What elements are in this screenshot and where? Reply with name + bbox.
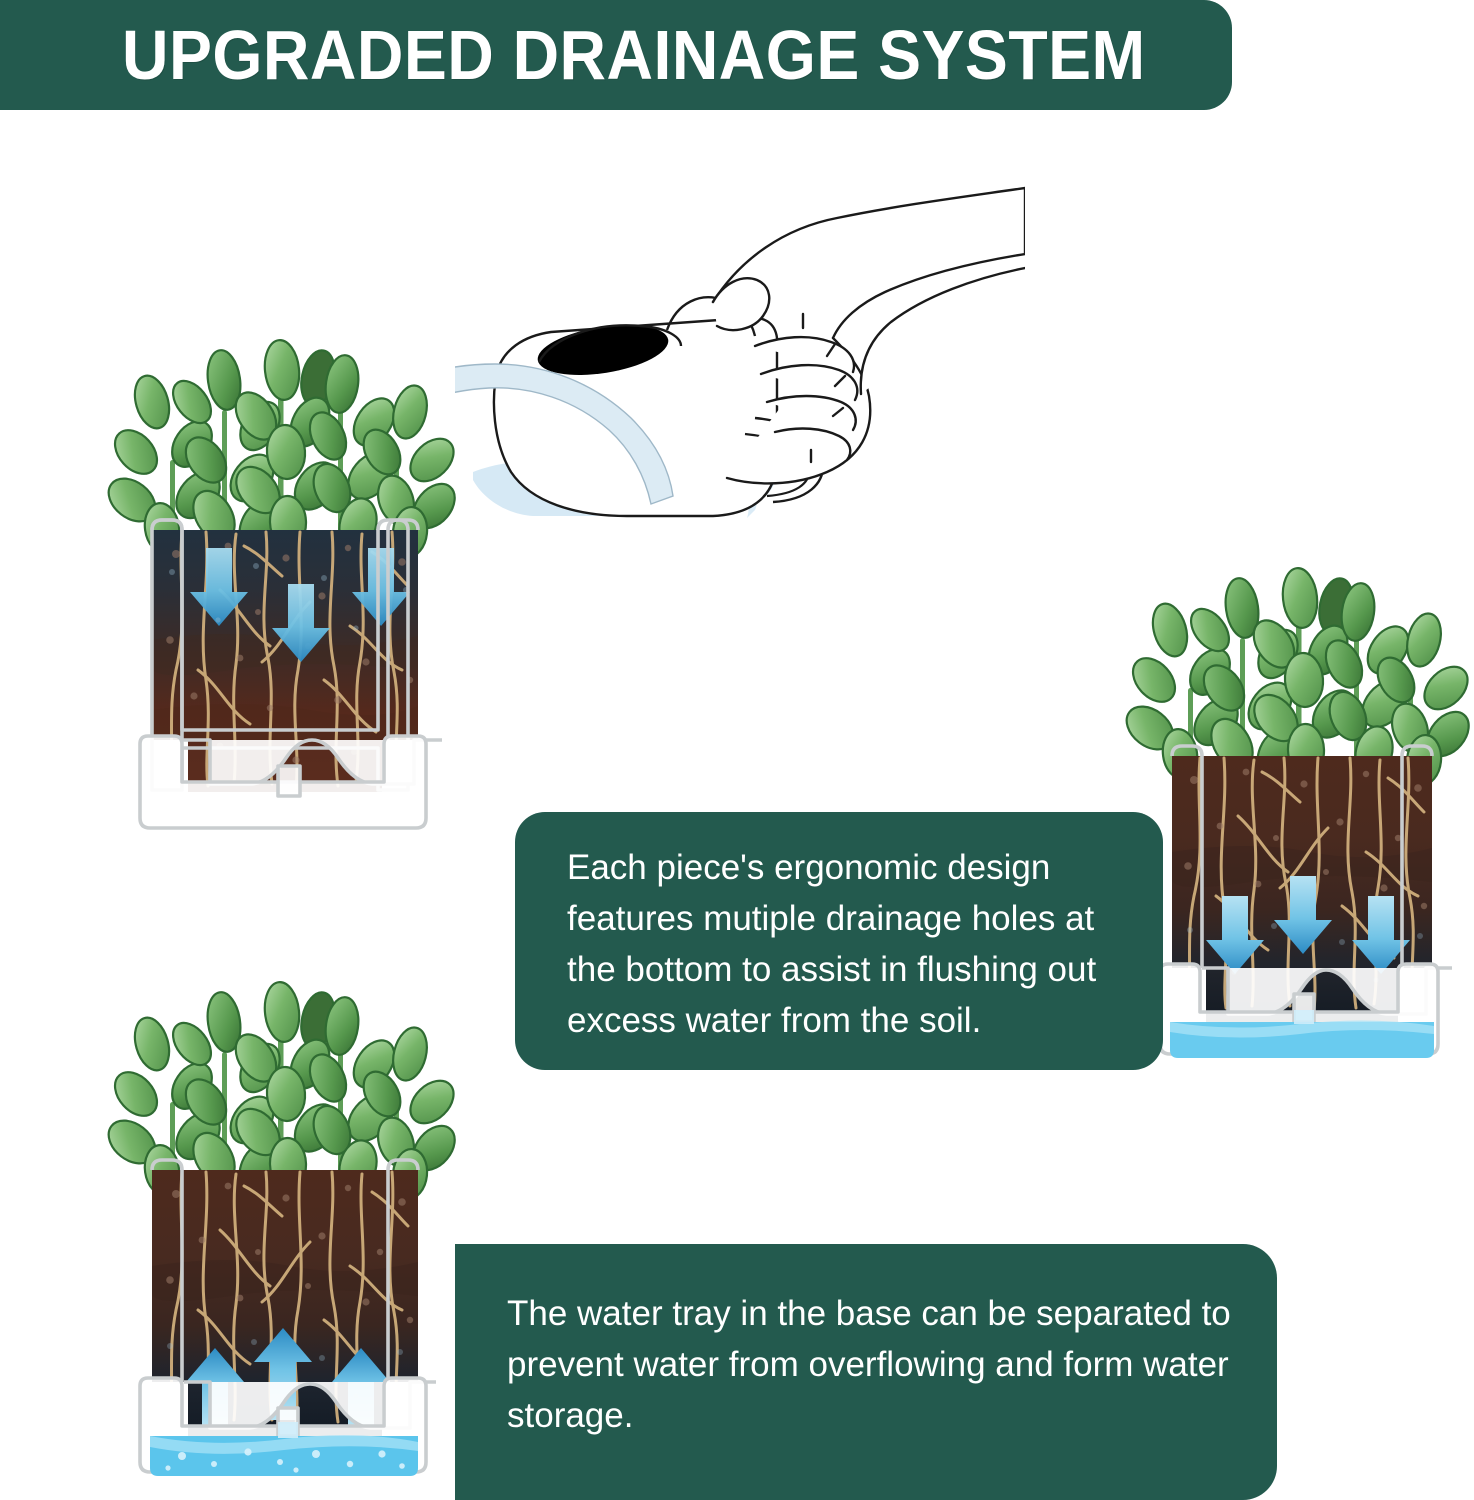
infographic-canvas: UPGRADED DRAINAGE SYSTEM xyxy=(0,0,1474,1500)
callout-drainage-holes: Each piece's ergonomic design features m… xyxy=(515,812,1163,1070)
plant-foliage xyxy=(100,980,463,1200)
planter-storage-bottom-left xyxy=(110,990,460,1500)
header-banner: UPGRADED DRAINAGE SYSTEM xyxy=(0,0,1232,110)
planter-watering-top-left xyxy=(110,340,460,870)
planter-draining-middle-right xyxy=(1130,570,1474,1100)
page-title: UPGRADED DRAINAGE SYSTEM xyxy=(122,15,1146,95)
hand-holding-watering-can xyxy=(455,150,1025,575)
callout-water-tray: The water tray in the base can be separa… xyxy=(455,1244,1277,1500)
